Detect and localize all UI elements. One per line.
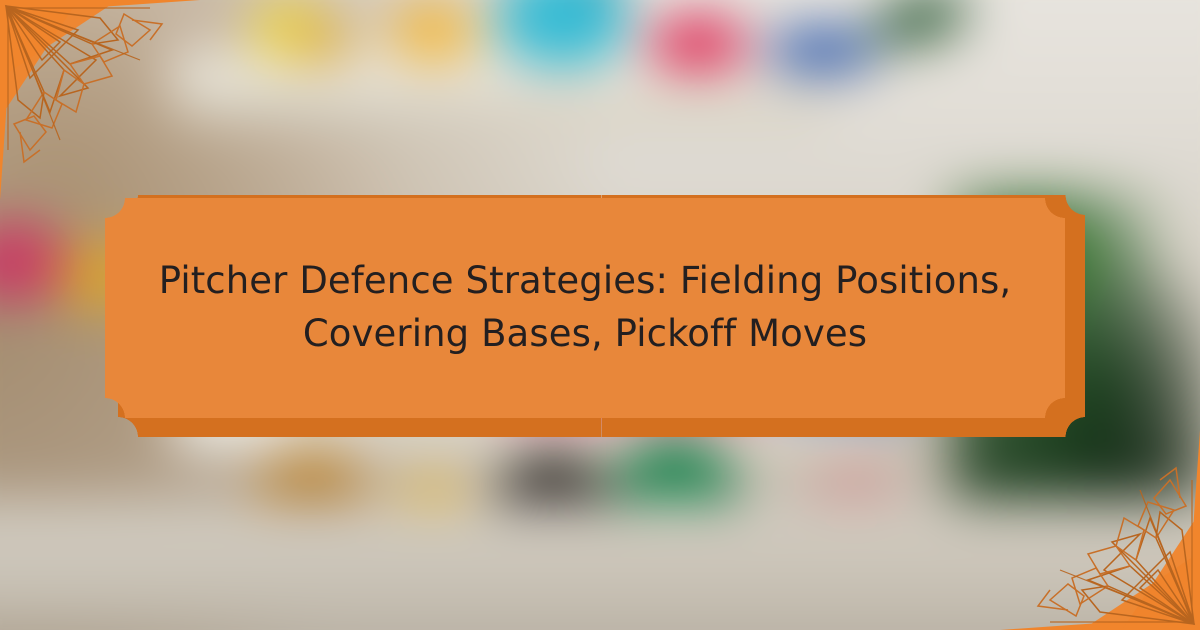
background-object-red (648, 18, 748, 68)
background-object-orange (390, 2, 476, 60)
social-card: Pitcher Defence Strategies: Fielding Pos… (0, 0, 1200, 630)
banner-card: Pitcher Defence Strategies: Fielding Pos… (105, 198, 1065, 418)
background-object-teal-highlight (540, 0, 586, 30)
shelf-board-top-edge (190, 95, 830, 121)
corner-ornament-top-left-icon (0, 0, 200, 200)
background-object-yellow-dark (292, 20, 354, 62)
corner-ornament-bottom-right-icon (1000, 430, 1200, 630)
background-object-blue (766, 28, 878, 72)
page-title: Pitcher Defence Strategies: Fielding Pos… (145, 255, 1025, 360)
